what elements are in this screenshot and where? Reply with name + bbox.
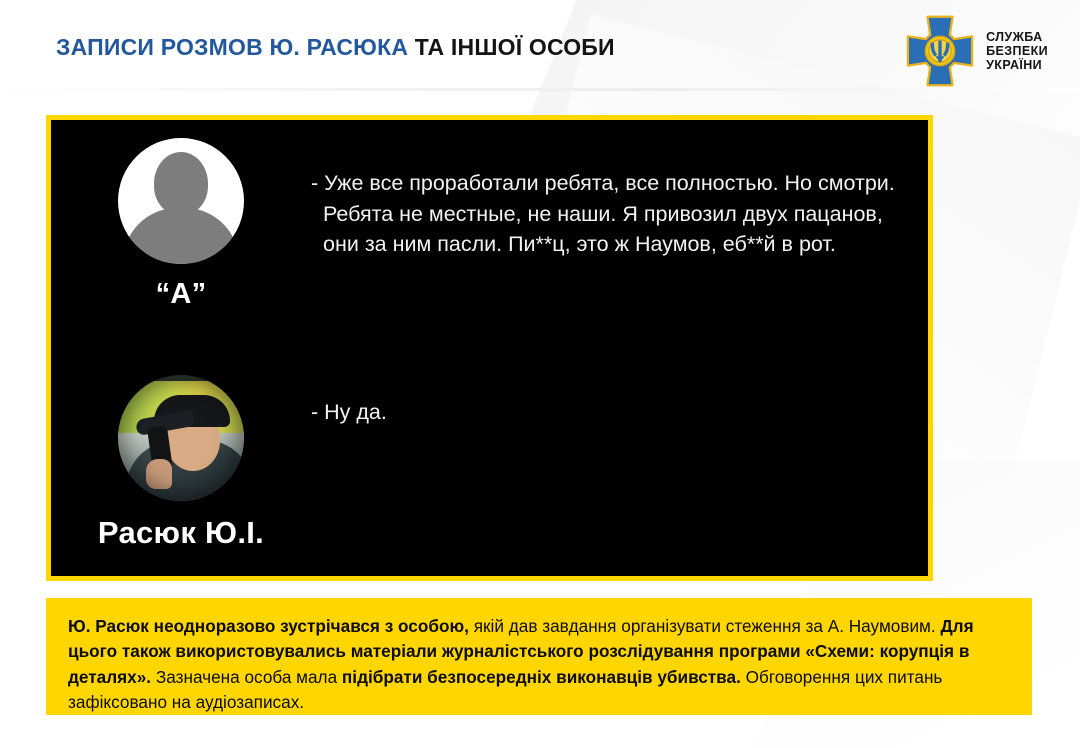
speaker-label-rasiuk: Расюк Ю.І. (98, 515, 264, 551)
sbu-logo-line-1: СЛУЖБА (986, 30, 1048, 44)
conversation-panel-inner: “А” - Уже все проработали ребята, все по… (51, 120, 928, 576)
page-title: ЗАПИСИ РОЗМОВ Ю. РАСЮКА ТА ІНШОЇ ОСОБИ (56, 34, 615, 61)
silhouette-head-shape (154, 152, 208, 215)
message-text-rasiuk: - Ну да. (311, 375, 928, 428)
sbu-logo-text: СЛУЖБА БЕЗПЕКИ УКРАЇНИ (986, 30, 1048, 72)
caption-segment-1: якій дав завдання організувати стеження … (469, 616, 941, 636)
avatar-rasiuk-photo (118, 375, 244, 501)
message-row-anonymous: “А” - Уже все проработали ребята, все по… (51, 138, 928, 311)
sbu-logo-line-2: БЕЗПЕКИ (986, 44, 1048, 58)
page-title-accent: ЗАПИСИ РОЗМОВ Ю. РАСЮКА (56, 34, 408, 60)
silhouette-body-shape (123, 208, 239, 264)
caption-segment-3: Зазначена особа мала (151, 667, 342, 687)
speaker-rasiuk: Расюк Ю.І. (51, 375, 311, 551)
sbu-logo-line-3: УКРАЇНИ (986, 58, 1048, 72)
sbu-cross-trident-emblem (905, 14, 975, 88)
caption-text: Ю. Расюк неодноразово зустрічався з особ… (68, 616, 974, 712)
message-row-rasiuk: Расюк Ю.І. - Ну да. (51, 375, 928, 551)
caption-box: Ю. Расюк неодноразово зустрічався з особ… (46, 598, 1032, 715)
conversation-panel: “А” - Уже все проработали ребята, все по… (46, 115, 933, 581)
speaker-anonymous: “А” (51, 138, 311, 311)
photo-vignette-overlay (118, 375, 244, 501)
avatar-anonymous-icon (118, 138, 244, 264)
caption-segment-0: Ю. Расюк неодноразово зустрічався з особ… (68, 616, 469, 636)
sbu-logo: СЛУЖБА БЕЗПЕКИ УКРАЇНИ (905, 14, 1048, 88)
speaker-label-anonymous: “А” (156, 278, 207, 311)
caption-segment-4: підібрати безпосередніх виконавців убивс… (342, 667, 741, 687)
slide-header: ЗАПИСИ РОЗМОВ Ю. РАСЮКА ТА ІНШОЇ ОСОБИ С… (0, 0, 1080, 92)
page-title-plain: ТА ІНШОЇ ОСОБИ (408, 34, 615, 60)
slide-root: ЗАПИСИ РОЗМОВ Ю. РАСЮКА ТА ІНШОЇ ОСОБИ С… (0, 0, 1080, 748)
message-text-anonymous: - Уже все проработали ребята, все полнос… (311, 138, 928, 260)
